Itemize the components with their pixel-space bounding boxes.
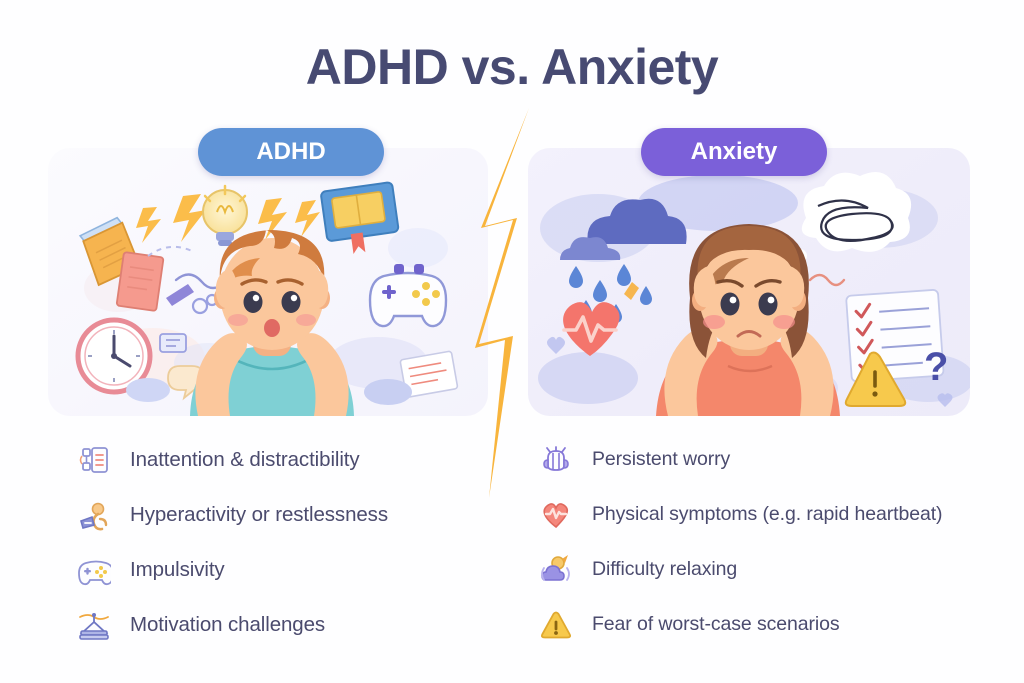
list-item[interactable]: Motivation challenges xyxy=(74,597,504,652)
checklist-flowchart-icon xyxy=(74,440,114,480)
balance-scale-icon xyxy=(74,605,114,645)
game-controller-icon xyxy=(74,550,114,590)
anxiety-symptom-list: Persistent worry Physical symptoms (e.g.… xyxy=(536,432,1006,652)
adhd-symptom-list: Inattention & distractibility Hyperactiv… xyxy=(74,432,504,652)
list-item[interactable]: Impulsivity xyxy=(74,542,504,597)
running-activity-icon xyxy=(74,495,114,535)
adhd-illustration xyxy=(48,148,488,416)
svg-text:?: ? xyxy=(924,345,948,389)
anxiety-illustration-panel: ? xyxy=(528,148,970,416)
list-item-label: Impulsivity xyxy=(130,558,225,582)
list-item[interactable]: Difficulty relaxing xyxy=(536,542,1006,597)
anxiety-illustration: ? xyxy=(528,148,970,416)
list-item-label: Inattention & distractibility xyxy=(130,448,360,472)
list-item-label: Motivation challenges xyxy=(130,613,325,637)
list-item[interactable]: Hyperactivity or restlessness xyxy=(74,487,504,542)
warning-triangle-icon xyxy=(536,605,576,645)
list-item[interactable]: Inattention & distractibility xyxy=(74,432,504,487)
list-item-label: Persistent worry xyxy=(592,448,730,471)
infographic-root: ADHD vs. Anxiety xyxy=(0,0,1024,683)
list-item-label: Hyperactivity or restlessness xyxy=(130,503,388,527)
badge-anxiety[interactable]: Anxiety xyxy=(641,128,827,176)
list-item[interactable]: Physical symptoms (e.g. rapid heartbeat) xyxy=(536,487,1006,542)
heart-pulse-icon xyxy=(536,495,576,535)
list-item-label: Difficulty relaxing xyxy=(592,558,737,581)
list-item[interactable]: Fear of worst-case scenarios xyxy=(536,597,1006,652)
badge-adhd[interactable]: ADHD xyxy=(198,128,384,176)
adhd-illustration-panel xyxy=(48,148,488,416)
list-item-label: Fear of worst-case scenarios xyxy=(592,613,840,636)
list-item[interactable]: Persistent worry xyxy=(536,432,1006,487)
cloud-storm-icon xyxy=(536,550,576,590)
page-title: ADHD vs. Anxiety xyxy=(0,38,1024,96)
list-item-label: Physical symptoms (e.g. rapid heartbeat) xyxy=(592,503,942,526)
lightning-bolt-icon xyxy=(455,108,575,498)
